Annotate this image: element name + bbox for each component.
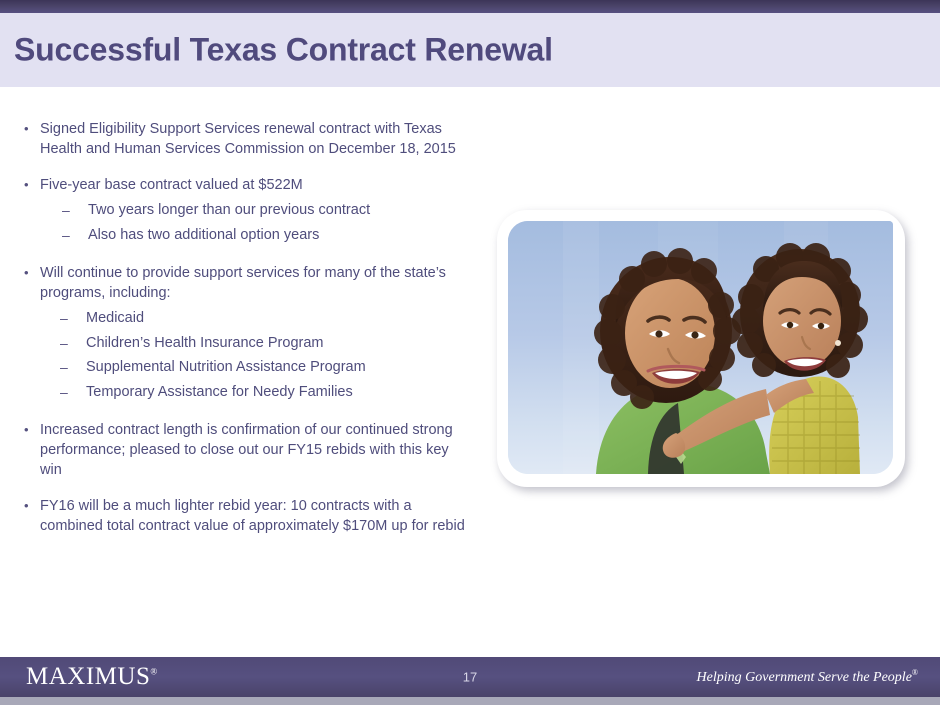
bullet-item: • Will continue to provide support servi… [18, 263, 470, 303]
slide-content: • Signed Eligibility Support Services re… [0, 87, 940, 647]
registered-mark: ® [912, 668, 918, 677]
bullet-block: • Increased contract length is confirmat… [18, 420, 470, 480]
bullet-item: • FY16 will be a much lighter rebid year… [18, 496, 470, 536]
bullet-text: Signed Eligibility Support Services rene… [40, 119, 470, 159]
bullet-text: Five-year base contract valued at $522M [40, 175, 470, 195]
photo-illustration [508, 221, 893, 474]
sub-bullet-item: – Medicaid [18, 306, 470, 331]
dash-icon: – [18, 331, 86, 356]
sub-bullet-text: Medicaid [86, 306, 470, 331]
dash-icon: – [18, 355, 86, 380]
title-band: Successful Texas Contract Renewal [0, 13, 940, 87]
bullet-block: • FY16 will be a much lighter rebid year… [18, 496, 470, 536]
photo-family-image [508, 221, 893, 474]
sub-bullet-item: – Supplemental Nutrition Assistance Prog… [18, 355, 470, 380]
bullet-block: • Will continue to provide support servi… [18, 263, 470, 404]
top-accent-bar [0, 0, 940, 13]
sub-bullet-text: Two years longer than our previous contr… [88, 198, 470, 223]
bullet-dot-icon: • [18, 263, 40, 283]
bullet-dot-icon: • [18, 119, 40, 139]
bullet-text: FY16 will be a much lighter rebid year: … [40, 496, 470, 536]
bottom-strip [0, 697, 940, 705]
dash-icon: – [18, 223, 88, 248]
bullet-item: • Five-year base contract valued at $522… [18, 175, 470, 195]
sub-bullet-item: – Temporary Assistance for Needy Familie… [18, 380, 470, 405]
bullet-list: • Signed Eligibility Support Services re… [18, 119, 470, 536]
dash-icon: – [18, 380, 86, 405]
bullet-dot-icon: • [18, 175, 40, 195]
dash-icon: – [18, 306, 86, 331]
sub-bullet-text: Temporary Assistance for Needy Families [86, 380, 470, 405]
bullet-text: Increased contract length is confirmatio… [40, 420, 470, 480]
bullet-block: • Five-year base contract valued at $522… [18, 175, 470, 247]
bullet-dot-icon: • [18, 496, 40, 516]
bullet-item: • Signed Eligibility Support Services re… [18, 119, 470, 159]
dash-icon: – [18, 198, 88, 223]
bullet-item: • Increased contract length is confirmat… [18, 420, 470, 480]
sub-bullet-text: Also has two additional option years [88, 223, 470, 248]
bullet-dot-icon: • [18, 420, 40, 440]
sub-bullet-list: – Two years longer than our previous con… [18, 198, 470, 247]
bullet-text: Will continue to provide support service… [40, 263, 470, 303]
bullet-block: • Signed Eligibility Support Services re… [18, 119, 470, 159]
sub-bullet-text: Children’s Health Insurance Program [86, 331, 470, 356]
sub-bullet-item: – Children’s Health Insurance Program [18, 331, 470, 356]
photo-frame [497, 210, 905, 487]
page-title: Successful Texas Contract Renewal [14, 32, 553, 69]
sub-bullet-text: Supplemental Nutrition Assistance Progra… [86, 355, 470, 380]
sub-bullet-item: – Two years longer than our previous con… [18, 198, 470, 223]
sub-bullet-list: – Medicaid – Children’s Health Insurance… [18, 306, 470, 404]
tagline: Helping Government Serve the People® [697, 668, 918, 686]
sub-bullet-item: – Also has two additional option years [18, 223, 470, 248]
tagline-text: Helping Government Serve the People [697, 670, 912, 685]
footer-bar: MAXIMUS® 17 Helping Government Serve the… [0, 657, 940, 697]
